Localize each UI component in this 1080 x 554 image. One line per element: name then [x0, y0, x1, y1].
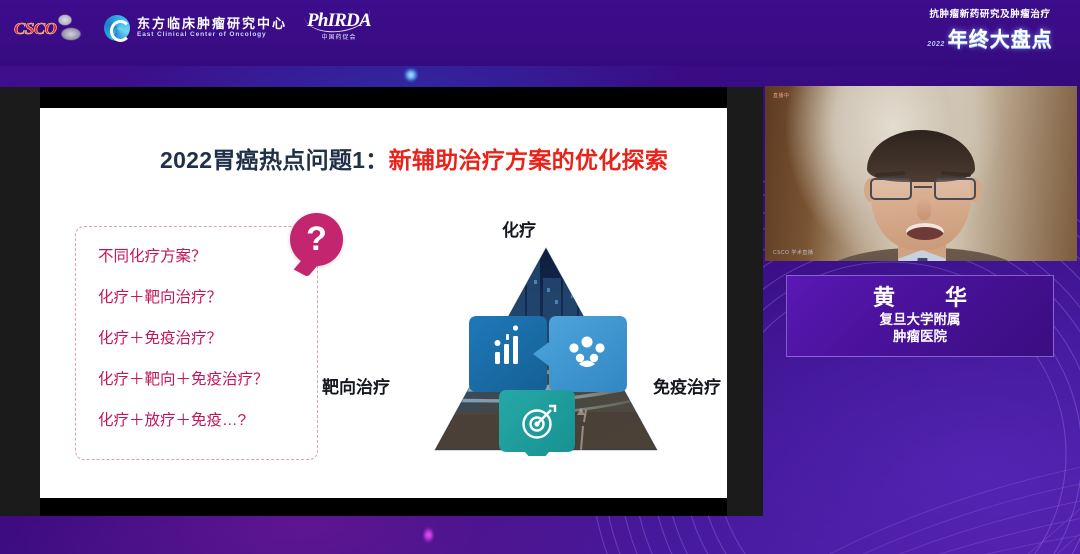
glow-dot-bottom-icon — [424, 528, 433, 542]
glow-dot-icon — [404, 68, 418, 82]
page-header: CSCO 东方临床肿瘤研究中心 East Clinical Center of … — [0, 0, 1080, 66]
decorative-grid-lines — [760, 330, 1080, 554]
phirda-logo: PhIRDA 中国药促会 — [307, 11, 371, 45]
slide-title: 2022胃癌热点问题1：新辅助治疗方案的优化探索 — [160, 141, 668, 175]
broadcast-stage: CSCO 东方临床肿瘤研究中心 East Clinical Center of … — [0, 0, 1080, 554]
treatment-triangle-diagram: 化疗 靶向治疗 免疫治疗 — [395, 208, 695, 478]
question-mark-glyph: ? — [306, 222, 327, 256]
speaker-nameplate: 黄 华 复旦大学附属 肿瘤医院 — [786, 275, 1054, 357]
speaker-mouth — [906, 223, 944, 240]
speaker-name: 黄 华 — [859, 286, 981, 310]
logo-group: CSCO 东方临床肿瘤研究中心 East Clinical Center of … — [12, 11, 371, 45]
ecco-logo: 东方临床肿瘤研究中心 East Clinical Center of Oncol… — [104, 15, 287, 41]
glasses-lens-left — [870, 178, 912, 200]
speaker-org-line2: 肿瘤医院 — [893, 328, 947, 346]
event-year: 2022 — [927, 41, 945, 48]
csco-mascot-icon — [56, 13, 84, 43]
glasses-lens-right — [934, 178, 976, 200]
list-item: 不同化疗方案？ — [98, 249, 269, 265]
event-title: 年终大盘点 — [948, 23, 1053, 52]
speaker-video-feed[interactable]: 直播中 CSCO 学术直播 — [765, 86, 1077, 261]
slide-title-prefix: 2022胃癌热点问题1： — [160, 147, 389, 173]
video-watermark-top: 直播中 — [773, 92, 790, 99]
triangle-graphic — [431, 244, 661, 456]
list-item: 化疗＋放疗＋免疫…? — [98, 413, 269, 429]
list-item: 化疗＋靶向＋免疫治疗？ — [98, 372, 269, 388]
question-list: 不同化疗方案？ 化疗＋靶向治疗？ 化疗＋免疫治疗？ 化疗＋靶向＋免疫治疗？ 化疗… — [98, 249, 269, 429]
list-item: 化疗＋靶向治疗？ — [98, 290, 269, 306]
slide-letterbox-bottom — [40, 498, 727, 516]
triangle-label-left: 靶向治疗 — [322, 373, 390, 398]
presentation-slide[interactable]: 2022胃癌热点问题1：新辅助治疗方案的优化探索 不同化疗方案？ 化疗＋靶向治疗… — [40, 108, 727, 498]
list-item: 化疗＋免疫治疗？ — [98, 331, 269, 347]
slide-letterbox-top — [40, 87, 727, 108]
glasses-bridge — [914, 186, 932, 188]
question-box: 不同化疗方案？ 化疗＋靶向治疗？ 化疗＋免疫治疗？ 化疗＋靶向＋免疫治疗？ 化疗… — [75, 226, 318, 460]
speaker-org-line1: 复旦大学附属 — [880, 311, 961, 329]
triangle-label-top: 化疗 — [502, 216, 536, 241]
phirda-logo-sub: 中国药促会 — [307, 32, 371, 41]
ecco-mark-icon — [104, 15, 130, 41]
csco-logo-text: CSCO — [14, 19, 56, 39]
video-watermark-bottom: CSCO 学术直播 — [773, 249, 813, 256]
question-mark-bubble-icon: ? — [290, 213, 343, 266]
triangle-label-right: 免疫治疗 — [653, 373, 721, 398]
ecco-logo-cn: 东方临床肿瘤研究中心 — [137, 17, 287, 31]
slide-viewport: 2022胃癌热点问题1：新辅助治疗方案的优化探索 不同化疗方案？ 化疗＋靶向治疗… — [0, 87, 763, 516]
slide-title-highlight: 新辅助治疗方案的优化探索 — [389, 147, 669, 173]
speaker-nose — [917, 198, 931, 220]
event-branding: 抗肿瘤新药研究及肿瘤治疗 2022 年终大盘点 — [914, 6, 1066, 52]
csco-logo: CSCO — [12, 11, 84, 45]
ecco-logo-en: East Clinical Center of Oncology — [137, 32, 287, 39]
event-tagline: 抗肿瘤新药研究及肿瘤治疗 — [914, 6, 1066, 20]
